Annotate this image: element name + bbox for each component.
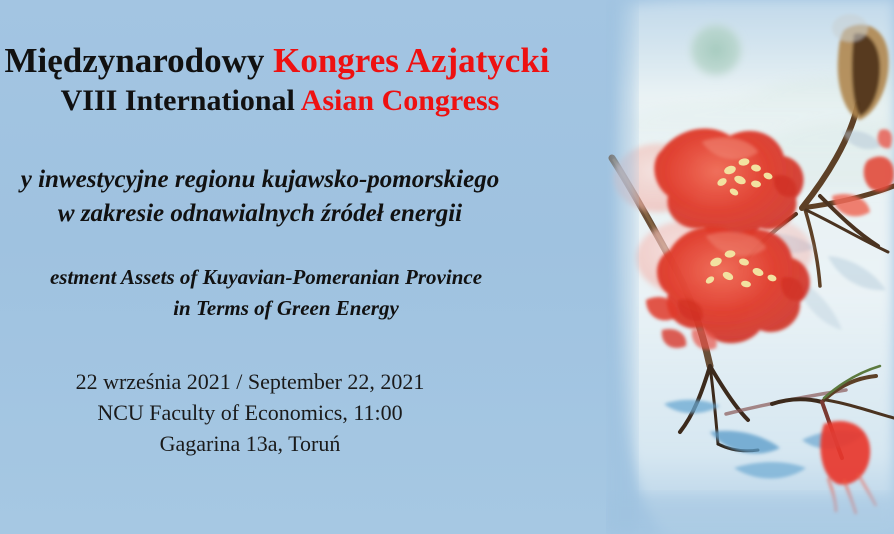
title-line-2-black: VIII International xyxy=(61,84,295,117)
subtitle-polish-line-2: w zakresie odnawialnych źródeł energii xyxy=(0,197,566,231)
venue-place: NCU Faculty of Economics, 11:00 xyxy=(0,397,500,428)
title-line-1-red: Kongres Azjatycki xyxy=(273,41,549,80)
subtitle-polish: y inwestycyjne regionu kujawsko-pomorski… xyxy=(0,163,566,231)
venue-address: Gagarina 13a, Toruń xyxy=(0,428,500,459)
venue-block: 22 września 2021 / September 22, 2021 NC… xyxy=(0,366,500,459)
poster-canvas: Międzynarodowy Kongres Azjatycki VIII In… xyxy=(0,0,894,534)
subtitle-english: estment Assets of Kuyavian-Pomeranian Pr… xyxy=(0,262,572,324)
watercolor-artwork xyxy=(606,0,894,534)
poster-text-column: Międzynarodowy Kongres Azjatycki VIII In… xyxy=(0,0,612,534)
subtitle-english-line-2: in Terms of Green Energy xyxy=(0,293,572,324)
poster-title-block: Międzynarodowy Kongres Azjatycki VIII In… xyxy=(0,40,612,120)
camellia-painting-svg xyxy=(606,0,894,534)
venue-date: 22 września 2021 / September 22, 2021 xyxy=(0,366,500,397)
title-line-1: Międzynarodowy Kongres Azjatycki xyxy=(0,40,612,82)
title-line-1-black: Międzynarodowy xyxy=(4,41,264,80)
subtitle-polish-line-1: y inwestycyjne regionu kujawsko-pomorski… xyxy=(0,163,566,197)
moon-circle xyxy=(686,20,746,80)
subtitle-english-line-1: estment Assets of Kuyavian-Pomeranian Pr… xyxy=(0,262,572,293)
title-line-2: VIII International Asian Congress xyxy=(0,82,612,120)
title-line-2-red: Asian Congress xyxy=(301,84,500,117)
